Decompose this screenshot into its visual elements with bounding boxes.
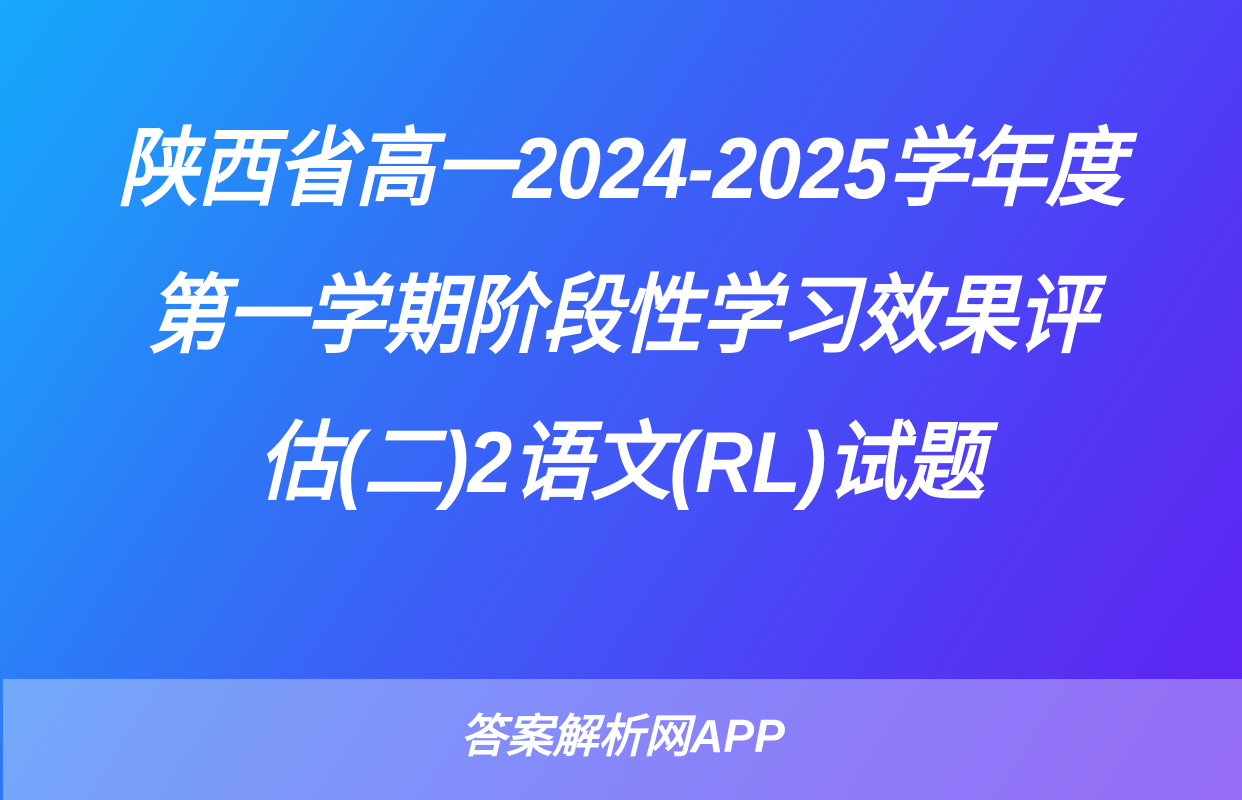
watermark-bar: 答案解析网APP <box>3 679 1242 800</box>
exam-title-card: 陕西省高一2024-2025学年度第一学期阶段性学习效果评估(二)2语文(RL)… <box>0 0 1242 800</box>
watermark-label: 答案解析网APP <box>460 713 785 759</box>
page-title: 陕西省高一2024-2025学年度第一学期阶段性学习效果评估(二)2语文(RL)… <box>0 96 1242 537</box>
page-title-text: 陕西省高一2024-2025学年度第一学期阶段性学习效果评估(二)2语文(RL)… <box>109 96 1134 537</box>
